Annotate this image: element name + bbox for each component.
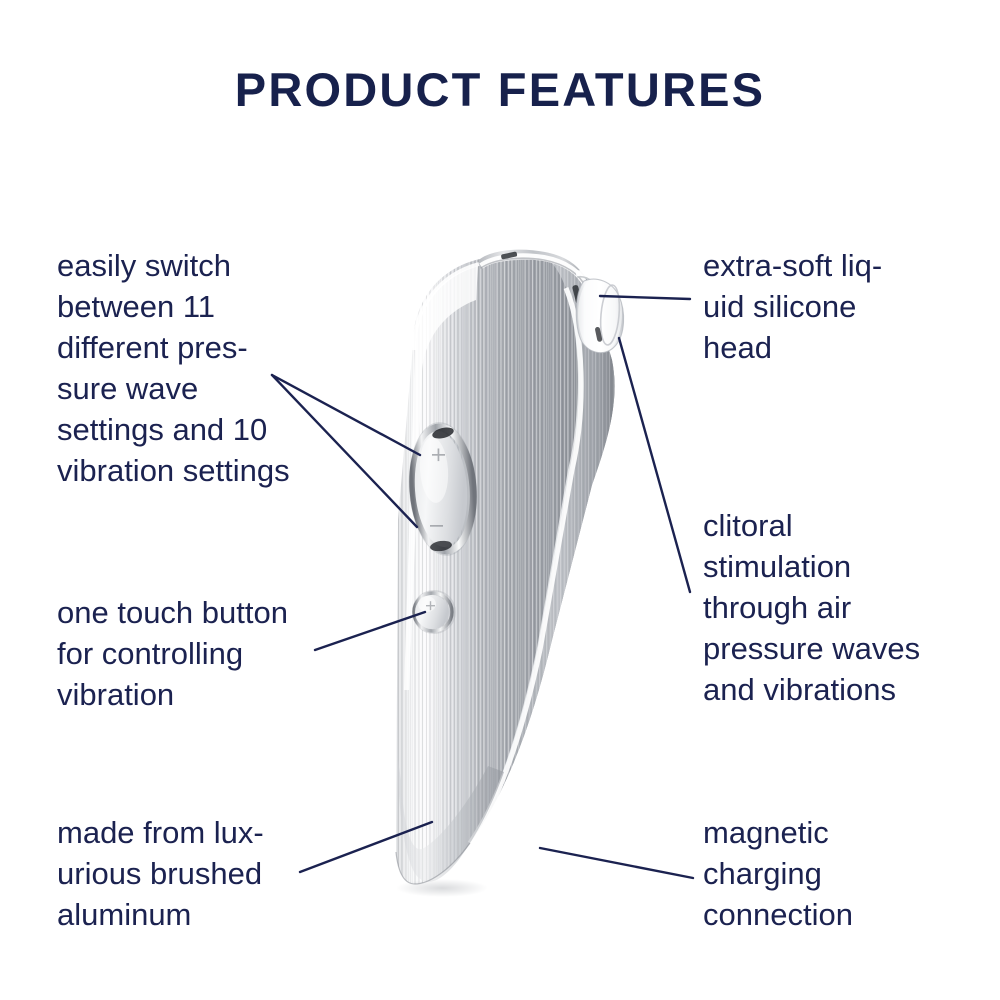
product-body	[380, 250, 630, 900]
minus-icon	[430, 525, 443, 527]
callout-one-touch-button: one touch button for controlling vibrati…	[57, 592, 357, 715]
leader-magnetic	[540, 848, 693, 878]
callout-magnetic-charging: magnetic charging connection	[703, 812, 983, 935]
callout-settings: easily switch between 11 different pres-…	[57, 245, 357, 491]
leader-clitoral	[619, 338, 690, 592]
ground-shadow	[396, 879, 488, 897]
vibration-button[interactable]	[412, 590, 456, 634]
infographic-canvas: PRODUCT FEATURES	[0, 0, 1000, 1000]
callout-brushed-aluminum: made from lux- urious brushed aluminum	[57, 812, 367, 935]
callout-clitoral-stimulation: clitoral stimulation through air pressur…	[703, 505, 983, 710]
callout-silicone-head: extra-soft liq- uid silicone head	[703, 245, 983, 368]
